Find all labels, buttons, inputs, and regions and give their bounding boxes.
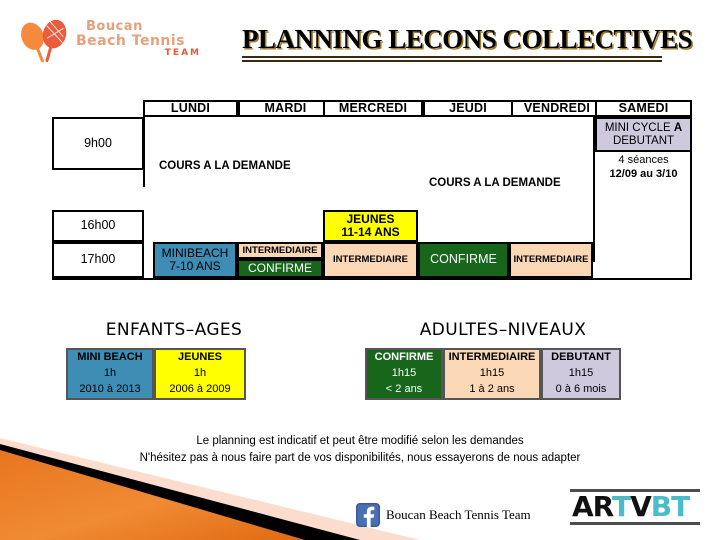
logo-line-2: Beach Tennis [76, 34, 201, 49]
legend-item-range: 2006 à 2009 [169, 382, 230, 398]
intermediaire-label: INTERMEDIAIRE [514, 255, 589, 265]
legend-item-duration: 1h15 [392, 366, 416, 382]
legend-item-duration: 1h [194, 366, 206, 382]
day-header-label: LUNDI [171, 102, 210, 115]
day-header-jeudi: JEUDI [423, 100, 513, 117]
partner-logo-seg1: AR [572, 490, 612, 523]
samedi-mini-cycle-note: 4 séances 12/09 au 3/10 [595, 154, 692, 182]
legend-item-duration: 1h15 [569, 366, 593, 382]
day-header-lundi: LUNDI [143, 100, 238, 117]
facebook-icon[interactable] [356, 503, 380, 527]
note-line-1: Le planning est indicatif et peut être m… [0, 433, 720, 450]
samedi-mini-cycle-line2: DEBUTANT [613, 135, 674, 147]
confirme-label: CONFIRME [248, 262, 312, 275]
legend-item-name: DEBUTANT [551, 350, 611, 366]
mardi-17h-intermediaire-cell[interactable]: INTERMEDIAIRE [237, 242, 323, 259]
grid-bottom-line [52, 278, 692, 280]
time-label: 9h00 [84, 137, 112, 150]
intermediaire-label: INTERMEDIAIRE [243, 246, 318, 256]
logo-line-1: Boucan [86, 20, 201, 34]
notes-block: Le planning est indicatif et peut être m… [0, 433, 720, 466]
page-title: PLANNING LECONS COLLECTIVES [242, 24, 662, 62]
partner-logo: ARTVBT [570, 489, 700, 525]
note-line-2: N'hésitez pas à nous faire part de vos d… [0, 450, 720, 467]
partner-logo-word: ARTVBT [570, 492, 700, 522]
partner-logo-seg3: V [630, 490, 651, 523]
legend-item-name: CONFIRME [375, 350, 434, 366]
confirme-label: CONFIRME [430, 253, 497, 266]
title-underline-2 [242, 60, 662, 62]
facebook-link[interactable]: Boucan Beach Tennis Team [356, 503, 531, 527]
schedule-table: LUNDI MARDI MERCREDI JEUDI VENDREDI SAME… [52, 100, 692, 280]
grid-divider-left [143, 117, 145, 187]
logo-line-3: TEAM [76, 49, 201, 58]
legend-adults-item-intermediaire[interactable]: INTERMEDIAIRE 1h15 1 à 2 ans [443, 348, 541, 400]
time-label-17h00: 17h00 [52, 242, 144, 278]
legend-adults-item-debutant[interactable]: DEBUTANT 1h15 0 à 6 mois [541, 348, 621, 400]
grid-divider-right [690, 117, 692, 280]
samedi-note-1: 4 séances [595, 154, 692, 168]
facebook-label: Boucan Beach Tennis Team [386, 507, 531, 523]
day-header-mercredi: MERCREDI [323, 100, 423, 117]
time-label-9h00: 9h00 [52, 117, 144, 170]
page-title-text: PLANNING LECONS COLLECTIVES [242, 24, 662, 55]
partner-logo-seg4: B [651, 490, 671, 523]
lundi-17h-minibeach-cell[interactable]: MINIBEACH 7-10 ANS [153, 242, 237, 278]
vendredi-17h-intermediaire-cell[interactable]: INTERMEDIAIRE [509, 242, 593, 278]
mini-cycle-text: MINI CYCLE [605, 122, 674, 134]
day-header-label: VENDREDI [524, 102, 590, 115]
day-header-samedi: SAMEDI [595, 100, 692, 117]
mercredi-16h-jeunes-cell[interactable]: JEUNES 11-14 ANS [323, 210, 418, 242]
day-header-label: JEUDI [449, 102, 487, 115]
time-label-16h00: 16h00 [52, 210, 144, 242]
legend-item-range: 1 à 2 ans [469, 382, 514, 398]
day-header-label: SAMEDI [619, 102, 669, 115]
mardi-17h-confirme-cell[interactable]: CONFIRME [237, 259, 323, 278]
legend-item-range: 0 à 6 mois [556, 382, 607, 398]
legend-item-range: 2010 à 2013 [79, 382, 140, 398]
time-label: 17h00 [81, 253, 116, 266]
cours-a-la-demande-lundi-label: COURS A LA DEMANDE [159, 160, 291, 172]
legend-item-name: JEUNES [178, 350, 222, 366]
tennis-rackets-icon [14, 18, 76, 68]
minibeach-line2: 7-10 ANS [169, 260, 220, 273]
grid-divider-samedi [593, 117, 595, 262]
legend-item-duration: 1h [104, 366, 116, 382]
brand-logo: Boucan Beach Tennis TEAM [14, 18, 194, 78]
legend-children-item-mini-beach[interactable]: MINI BEACH 1h 2010 à 2013 [66, 348, 154, 400]
legend-item-name: MINI BEACH [77, 350, 142, 366]
day-header-mardi: MARDI [238, 100, 333, 117]
samedi-note-2: 12/09 au 3/10 [595, 168, 692, 182]
title-underline-1 [242, 56, 662, 58]
legend-adults-title: ADULTES–NIVEAUX [383, 320, 623, 340]
legend-item-name: INTERMEDIAIRE [449, 350, 536, 366]
jeunes-line2: 11-14 ANS [341, 226, 399, 239]
partner-logo-seg2: T [612, 490, 630, 523]
samedi-mini-cycle-cell[interactable]: MINI CYCLE A DEBUTANT [595, 117, 692, 152]
samedi-mini-cycle-line1: MINI CYCLE A [605, 122, 682, 134]
legend-children-title: ENFANTS–AGES [84, 320, 264, 340]
legend-children-item-jeunes[interactable]: JEUNES 1h 2006 à 2009 [154, 348, 246, 400]
cours-a-la-demande-jeudi-label: COURS A LA DEMANDE [429, 177, 561, 189]
day-header-vendredi: VENDREDI [511, 100, 603, 117]
legend-item-duration: 1h15 [480, 366, 504, 382]
jeudi-17h-confirme-cell[interactable]: CONFIRME [418, 242, 509, 278]
legend-item-range: < 2 ans [386, 382, 422, 398]
legend-adults-item-confirme[interactable]: CONFIRME 1h15 < 2 ans [365, 348, 443, 400]
day-header-label: MARDI [265, 102, 307, 115]
mercredi-17h-intermediaire-cell[interactable]: INTERMEDIAIRE [323, 242, 418, 278]
time-label: 16h00 [81, 219, 116, 232]
intermediaire-label: INTERMEDIAIRE [333, 255, 408, 265]
day-header-label: MERCREDI [339, 102, 407, 115]
partner-logo-seg5: T [671, 490, 689, 523]
mini-cycle-letter: A [674, 122, 682, 134]
